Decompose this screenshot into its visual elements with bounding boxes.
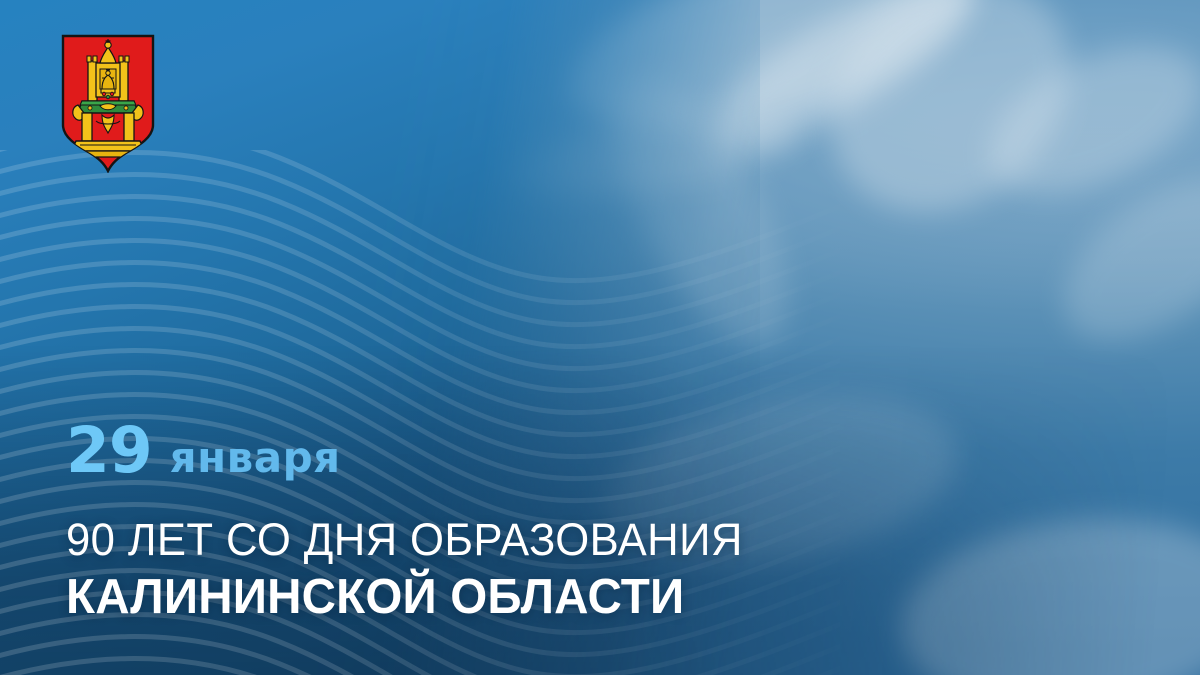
date-month: января xyxy=(170,437,341,479)
headline-line-1: 90 ЛЕТ СО ДНЯ ОБРАЗОВАНИЯ xyxy=(66,516,743,564)
date-day: 29 xyxy=(66,419,152,482)
event-date: 29 января xyxy=(66,419,341,482)
poster-canvas: 29 января 90 ЛЕТ СО ДНЯ ОБРАЗОВАНИЯ КАЛИ… xyxy=(0,0,1200,675)
coat-of-arms-icon xyxy=(60,33,156,173)
headline-block: 90 ЛЕТ СО ДНЯ ОБРАЗОВАНИЯ КАЛИНИНСКОЙ ОБ… xyxy=(66,516,764,624)
headline-line-2: КАЛИНИНСКОЙ ОБЛАСТИ xyxy=(66,571,743,623)
